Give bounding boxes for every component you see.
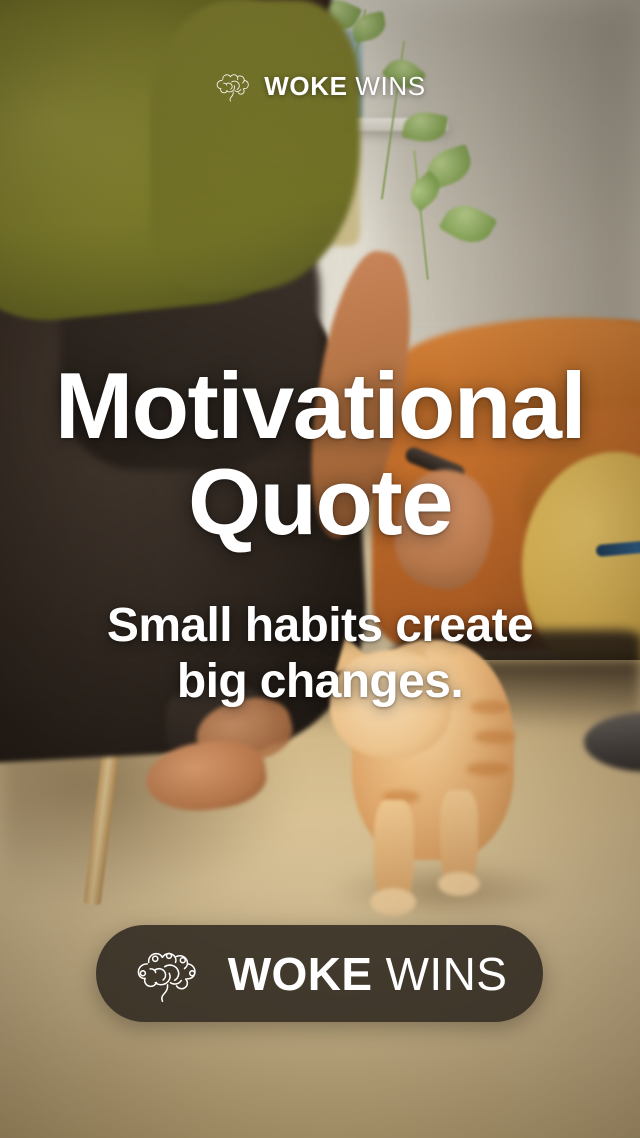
subhead-line-1: Small habits create bbox=[107, 599, 533, 652]
header-logo-light-word: WINS bbox=[355, 71, 425, 101]
brain-outline-icon bbox=[214, 70, 254, 102]
page-title: Motivational Quote bbox=[0, 358, 640, 550]
badge-logo-text: WOKE WINS bbox=[228, 947, 508, 1001]
badge-light-word: WINS bbox=[386, 948, 508, 1000]
brain-outline-icon bbox=[132, 945, 206, 1003]
badge-bold-word: WOKE bbox=[228, 948, 373, 1000]
header-logo: WOKE WINS bbox=[0, 70, 640, 102]
header-logo-text: WOKE WINS bbox=[264, 71, 425, 102]
quote-card: WOKE WINS Motivational Quote Small habit… bbox=[0, 0, 640, 1138]
headline-line-2: Quote bbox=[0, 454, 640, 550]
headline-line-1: Motivational bbox=[55, 353, 585, 458]
header-logo-bold-word: WOKE bbox=[264, 71, 347, 101]
subhead-line-2: big changes. bbox=[0, 654, 640, 710]
quote-text: Small habits create big changes. bbox=[0, 598, 640, 709]
text-overlay: WOKE WINS Motivational Quote Small habit… bbox=[0, 0, 640, 1138]
brand-badge[interactable]: WOKE WINS bbox=[96, 925, 543, 1022]
